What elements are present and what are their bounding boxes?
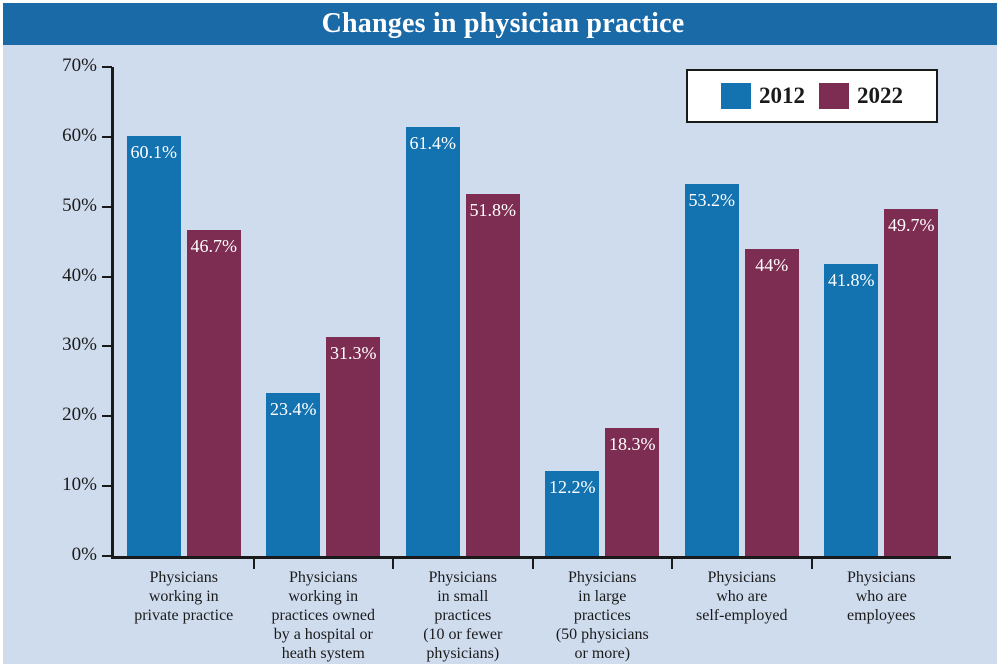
y-tick-label: 30%	[41, 334, 97, 356]
category-label-line: in small	[383, 587, 543, 606]
y-tick-mark	[102, 415, 112, 417]
legend-label-2022: 2022	[857, 83, 903, 109]
category-label-6: Physicianswho areemployees	[802, 568, 962, 625]
bar-2012-1	[127, 136, 181, 556]
chart-container: Changes in physician practice 0%10%20%30…	[0, 0, 1000, 667]
category-label-line: who are	[802, 587, 962, 606]
category-label-line: in large	[523, 587, 683, 606]
bar-2022-2	[326, 337, 380, 556]
legend-item-2012: 2012	[721, 83, 805, 109]
category-label-line: or more)	[523, 644, 683, 663]
category-label-5: Physicianswho areself-employed	[662, 568, 822, 625]
category-label-line: self-employed	[662, 606, 822, 625]
y-tick-mark	[102, 66, 112, 68]
bar-value-label: 53.2%	[670, 190, 754, 211]
bar-2012-6	[824, 264, 878, 556]
category-label-line: working in	[104, 587, 264, 606]
page-title: Changes in physician practice	[322, 8, 685, 40]
title-bar: Changes in physician practice	[3, 3, 1000, 45]
category-label-line: physicians)	[383, 644, 543, 663]
bar-value-label: 61.4%	[391, 133, 475, 154]
bar-value-label: 31.3%	[311, 343, 395, 364]
category-label-line: practices owned	[244, 606, 404, 625]
y-tick-mark	[102, 206, 112, 208]
bar-value-label: 60.1%	[112, 142, 196, 163]
category-label-1: Physiciansworking inprivate practice	[104, 568, 264, 625]
y-tick-mark	[102, 136, 112, 138]
y-tick-mark	[102, 485, 112, 487]
category-label-4: Physiciansin largepractices(50 physician…	[523, 568, 683, 663]
y-tick-mark	[102, 276, 112, 278]
bar-value-label: 44%	[730, 255, 814, 276]
legend-label-2012: 2012	[759, 83, 805, 109]
y-tick-label: 70%	[41, 55, 97, 77]
category-label-line: heath system	[244, 644, 404, 663]
y-tick-label: 60%	[41, 125, 97, 147]
bar-2022-3	[466, 194, 520, 556]
category-label-line: working in	[244, 587, 404, 606]
legend: 2012 2022	[686, 69, 938, 123]
y-tick-mark	[102, 345, 112, 347]
bar-value-label: 51.8%	[451, 200, 535, 221]
legend-item-2022: 2022	[819, 83, 903, 109]
category-label-line: practices	[383, 606, 543, 625]
category-label-line: Physicians	[383, 568, 543, 587]
y-tick-label: 40%	[41, 265, 97, 287]
bar-2022-1	[187, 230, 241, 556]
bar-value-label: 46.7%	[172, 236, 256, 257]
category-label-line: Physicians	[244, 568, 404, 587]
category-label-line: Physicians	[802, 568, 962, 587]
y-tick-mark	[102, 555, 112, 557]
bar-2012-3	[406, 127, 460, 556]
category-label-line: employees	[802, 606, 962, 625]
category-label-line: (50 physicians	[523, 625, 683, 644]
y-tick-label: 10%	[41, 474, 97, 496]
bar-2012-5	[685, 184, 739, 556]
y-tick-label: 0%	[41, 544, 97, 566]
category-label-line: by a hospital or	[244, 625, 404, 644]
bar-value-label: 12.2%	[530, 477, 614, 498]
legend-swatch-2022	[819, 83, 849, 109]
bar-value-label: 41.8%	[809, 270, 893, 291]
y-tick-label: 20%	[41, 404, 97, 426]
bar-value-label: 49.7%	[869, 215, 953, 236]
bars-layer: 60.1%46.7%23.4%31.3%61.4%51.8%12.2%18.3%…	[114, 67, 951, 556]
category-label-line: (10 or fewer	[383, 625, 543, 644]
plot-area: 0%10%20%30%40%50%60%70% 60.1%46.7%23.4%3…	[3, 45, 1000, 667]
category-label-3: Physiciansin smallpractices(10 or fewerp…	[383, 568, 543, 663]
category-label-line: practices	[523, 606, 683, 625]
category-label-line: Physicians	[523, 568, 683, 587]
legend-swatch-2012	[721, 83, 751, 109]
bar-2022-6	[884, 209, 938, 556]
bar-value-label: 18.3%	[590, 434, 674, 455]
bar-2022-5	[745, 249, 799, 556]
category-label-line: who are	[662, 587, 822, 606]
category-label-line: Physicians	[662, 568, 822, 587]
bar-value-label: 23.4%	[251, 399, 335, 420]
category-label-line: private practice	[104, 606, 264, 625]
category-label-2: Physiciansworking inpractices ownedby a …	[244, 568, 404, 663]
y-tick-label: 50%	[41, 195, 97, 217]
category-label-line: Physicians	[104, 568, 264, 587]
